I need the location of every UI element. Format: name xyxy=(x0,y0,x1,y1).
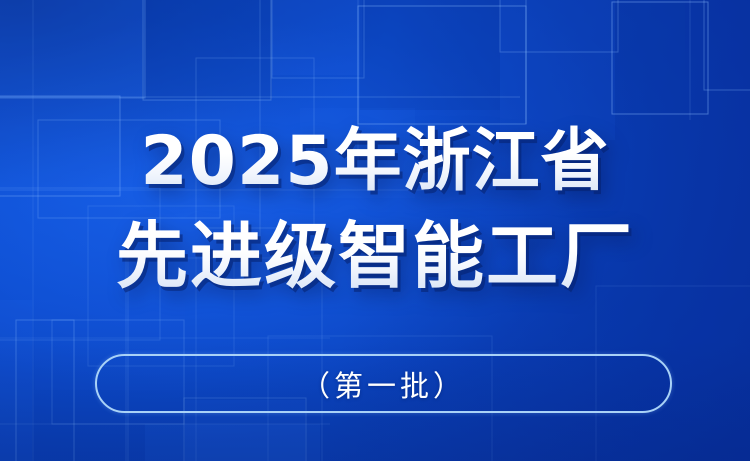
poster-canvas: 2025年浙江省 先进级智能工厂 （第一批） xyxy=(0,0,750,461)
batch-badge: （第一批） xyxy=(95,354,672,413)
batch-badge-label: （第一批） xyxy=(301,363,466,405)
title-line-2: 先进级智能工厂 xyxy=(0,209,750,304)
title-line-1: 2025年浙江省 xyxy=(0,114,750,209)
poster-headline: 2025年浙江省 先进级智能工厂 xyxy=(0,114,750,304)
